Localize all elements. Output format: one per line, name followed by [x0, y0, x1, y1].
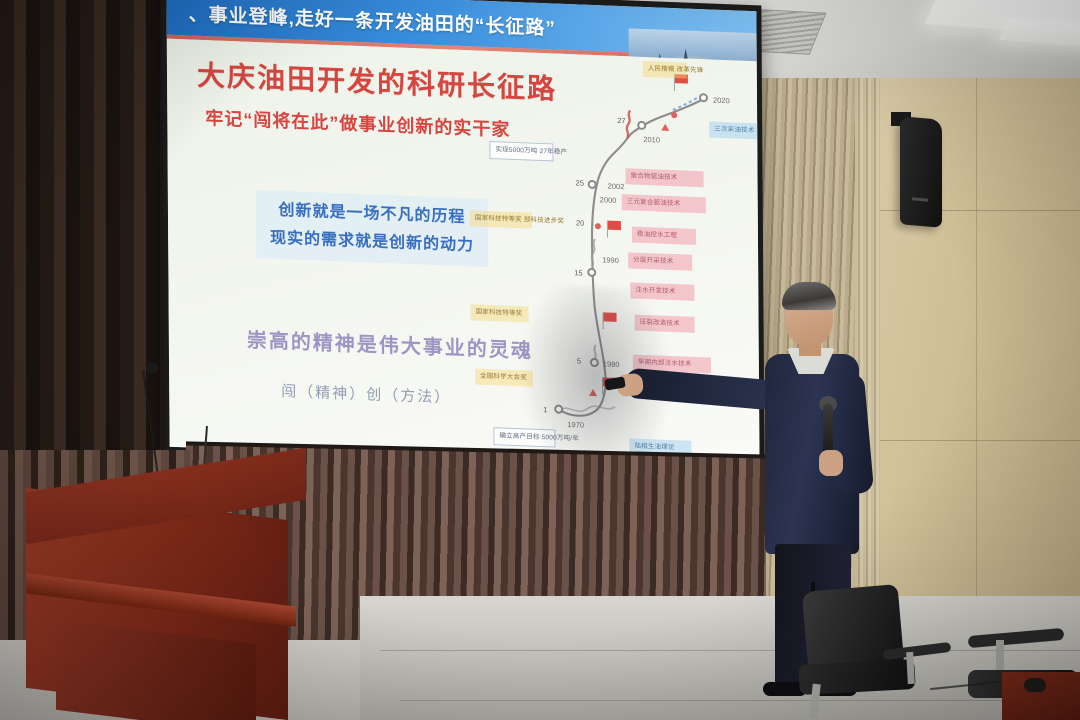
timeline-year-2010: 2010 — [643, 135, 660, 145]
callout-text: 三次采油技术 — [714, 126, 754, 135]
slide-subtitle: 牢记“闯将在此”做事业创新的实干家 — [205, 104, 510, 142]
callout-text: 分层开采技术 — [633, 257, 673, 266]
callout-ternary-flooding: 三元复合驱油技术 — [622, 194, 706, 213]
quote-block: 创新就是一场不凡的历程 现实的需求就是创新的动力 — [256, 190, 488, 267]
callout-polymer-flooding: 聚合物驱油技术 — [626, 168, 704, 187]
timeline-value-27: 27 — [617, 116, 625, 125]
callout-national-award-1: 国家科技特等奖 部科技进步奖 — [470, 210, 532, 228]
chair-armrest — [968, 628, 1065, 648]
callout-text: 国家科技特等奖 — [476, 308, 523, 317]
timeline-value-15: 15 — [574, 268, 582, 277]
timeline-year-2000: 2000 — [600, 195, 617, 205]
timeline-node-2020 — [699, 93, 708, 102]
timeline-node-2010 — [637, 121, 646, 130]
callout-text: 聚合物驱油技术 — [631, 172, 678, 181]
timeline-year-2002: 2002 — [608, 182, 625, 192]
callout-text: 稳油控水工程 — [637, 231, 677, 240]
timeline-node-2000 — [588, 180, 597, 189]
callout-tertiary-recovery: 三次采油技术 — [709, 121, 759, 139]
callout-text: 人民楷模 改革先锋 — [648, 65, 704, 74]
chair-arm-post — [906, 652, 915, 684]
timeline-value-25: 25 — [576, 178, 584, 187]
timeline-node-1990 — [587, 268, 596, 277]
timeline-year-1990: 1990 — [602, 255, 619, 265]
slide-banner-text: 、事业登峰,走好一条开发油田的“长征路” — [166, 0, 555, 40]
flag-icon-1990s — [608, 221, 621, 231]
callout-text: 三元复合驱油技术 — [627, 198, 681, 207]
soul-line: 崇高的精神是伟大事业的灵魂 — [247, 324, 533, 364]
slide-body: 大庆油田开发的科研长征路 牢记“闯将在此”做事业创新的实干家 创新就是一场不凡的… — [167, 39, 760, 470]
timeline-year-2020: 2020 — [713, 96, 730, 106]
computer-mouse-icon — [1024, 678, 1046, 692]
callout-text: 实现5000万吨 27年稳产 — [495, 146, 567, 156]
method-line: 闯（精神）创（方法） — [281, 380, 451, 408]
microphone-stand-head-icon — [146, 362, 158, 374]
callout-stable-output: 实现5000万吨 27年稳产 — [489, 141, 553, 161]
lectern[interactable] — [26, 470, 316, 720]
projection-screen[interactable]: 、事业登峰,走好一条开发油田的“长征路” 大庆油田开发的科研长征路 牢记“闯将在… — [161, 0, 764, 476]
callout-layered-extraction: 分层开采技术 — [628, 252, 692, 270]
conference-hall-photo: 、事业登峰,走好一条开发油田的“长征路” 大庆油田开发的科研长征路 牢记“闯将在… — [0, 0, 1080, 720]
wall-speaker-icon — [900, 116, 942, 228]
timeline-value-20: 20 — [576, 218, 584, 227]
callout-text: 全国科学大会奖 — [480, 373, 527, 382]
presenter-hair — [782, 282, 836, 310]
office-chair-front[interactable] — [795, 588, 935, 720]
presenter-left-hand — [819, 450, 843, 476]
callout-people-model: 人民楷模 改革先锋 — [643, 61, 687, 78]
callout-water-control: 稳油控水工程 — [632, 226, 696, 244]
